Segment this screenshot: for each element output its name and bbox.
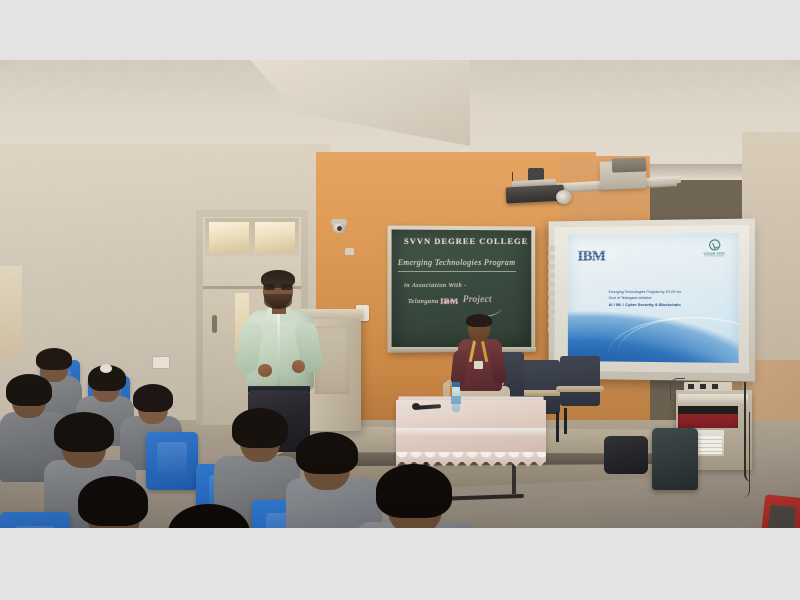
partner-logo-mark-icon <box>709 239 720 250</box>
table-cloth-band <box>396 428 546 437</box>
transom-pane-left <box>209 222 249 252</box>
blackboard-line-association: in Association With - <box>404 282 467 289</box>
ibm-logo: IBM <box>578 248 606 265</box>
power-switch-3[interactable] <box>712 384 718 389</box>
rack-device-top <box>678 394 748 404</box>
presenter-glasses-icon <box>264 284 292 290</box>
cable-run-center <box>735 412 750 498</box>
projector-lens <box>556 190 572 204</box>
hair-clip <box>100 364 112 373</box>
security-camera-lens <box>337 226 342 231</box>
presenter-hand-left <box>258 364 272 377</box>
door-handle[interactable] <box>212 315 217 333</box>
wall-switch[interactable] <box>345 248 354 255</box>
guest-hair <box>466 314 492 327</box>
loudspeaker <box>652 428 698 490</box>
water-bottle-label <box>451 396 461 404</box>
blackboard-line-program: Emerging Technologies Program <box>398 258 515 267</box>
slide-text-line-3: AI / ML / Cyber Security & Blockchain <box>609 302 681 307</box>
blackboard-line-ibm: IBM <box>440 296 459 306</box>
water-bottle-cap <box>452 382 460 387</box>
guest-id-badge <box>474 361 483 369</box>
blackboard-underline <box>398 271 516 272</box>
seminar-photograph: SVVN DEGREE COLLEGE Emerging Technologie… <box>0 60 800 528</box>
backpack <box>604 436 648 474</box>
red-chair-seat <box>766 505 797 528</box>
wall-notice-card <box>152 356 170 369</box>
audience-chair[interactable] <box>146 432 198 490</box>
power-switch-1[interactable] <box>688 384 694 389</box>
presenter-hand-right <box>292 360 305 373</box>
transom-window <box>205 218 299 256</box>
slide-text-line-1: Emerging Technologies Program by SVVN In… <box>609 290 682 294</box>
presenter-shirt-placket <box>277 312 280 388</box>
blackboard-line-college: SVVN DEGREE COLLEGE <box>404 236 528 246</box>
audience-chair[interactable] <box>0 512 70 528</box>
cable-run-top <box>670 378 685 401</box>
wall-poster <box>0 266 22 358</box>
power-switch-2[interactable] <box>700 384 706 389</box>
letterbox-top <box>0 0 800 60</box>
screenshot-canvas: SVVN DEGREE COLLEGE Emerging Technologie… <box>0 0 800 600</box>
transom-pane-right <box>255 222 295 252</box>
microphone-head-icon <box>412 403 420 410</box>
rack-device-printer-slot <box>678 406 738 414</box>
ceiling-equipment-box-top <box>612 157 646 172</box>
blackboard-line-project: Project <box>463 294 492 304</box>
projected-slide: IBM Emerging Technologies Program by SVV… <box>568 233 739 363</box>
letterbox-bottom <box>0 528 800 600</box>
whiteboard-side-buttons[interactable] <box>548 246 555 342</box>
partner-logo: VISION VERI TECHNOLOGIES <box>696 239 733 258</box>
partner-logo-sub: TECHNOLOGIES <box>696 255 733 257</box>
presenter-beard <box>264 294 292 309</box>
slide-text-line-2: Govt of Telangana Initiative <box>609 296 652 300</box>
